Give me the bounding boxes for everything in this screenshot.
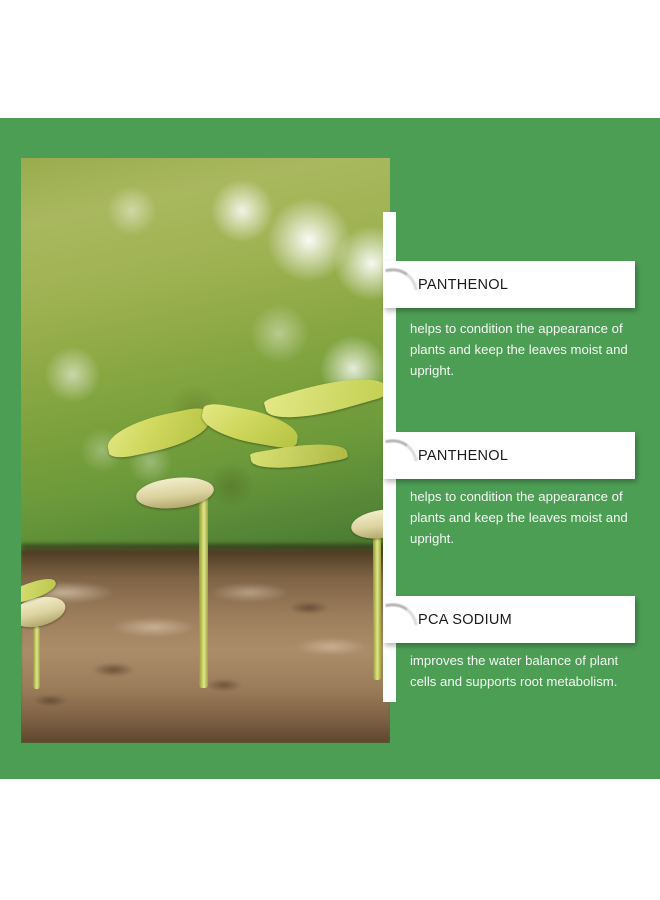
page-curl-icon: [385, 265, 417, 294]
seedling-photo: [21, 158, 390, 743]
page-canvas: PANTHENOL helps to condition the appeara…: [0, 0, 660, 900]
ingredient-title-card-1[interactable]: PANTHENOL: [383, 261, 635, 308]
ingredient-name: PCA SODIUM: [418, 612, 512, 628]
page-curl-icon: [385, 600, 417, 629]
ingredient-description-1: helps to condition the appearance of pla…: [410, 318, 642, 381]
page-curl-icon: [385, 436, 417, 465]
ingredient-name: PANTHENOL: [418, 277, 508, 293]
ingredient-description-3: improves the water balance of plant cell…: [410, 650, 642, 692]
ingredient-title-card-3[interactable]: PCA SODIUM: [383, 596, 635, 643]
ingredient-name: PANTHENOL: [418, 448, 508, 464]
ingredient-title-card-2[interactable]: PANTHENOL: [383, 432, 635, 479]
ingredient-description-2: helps to condition the appearance of pla…: [410, 486, 642, 549]
